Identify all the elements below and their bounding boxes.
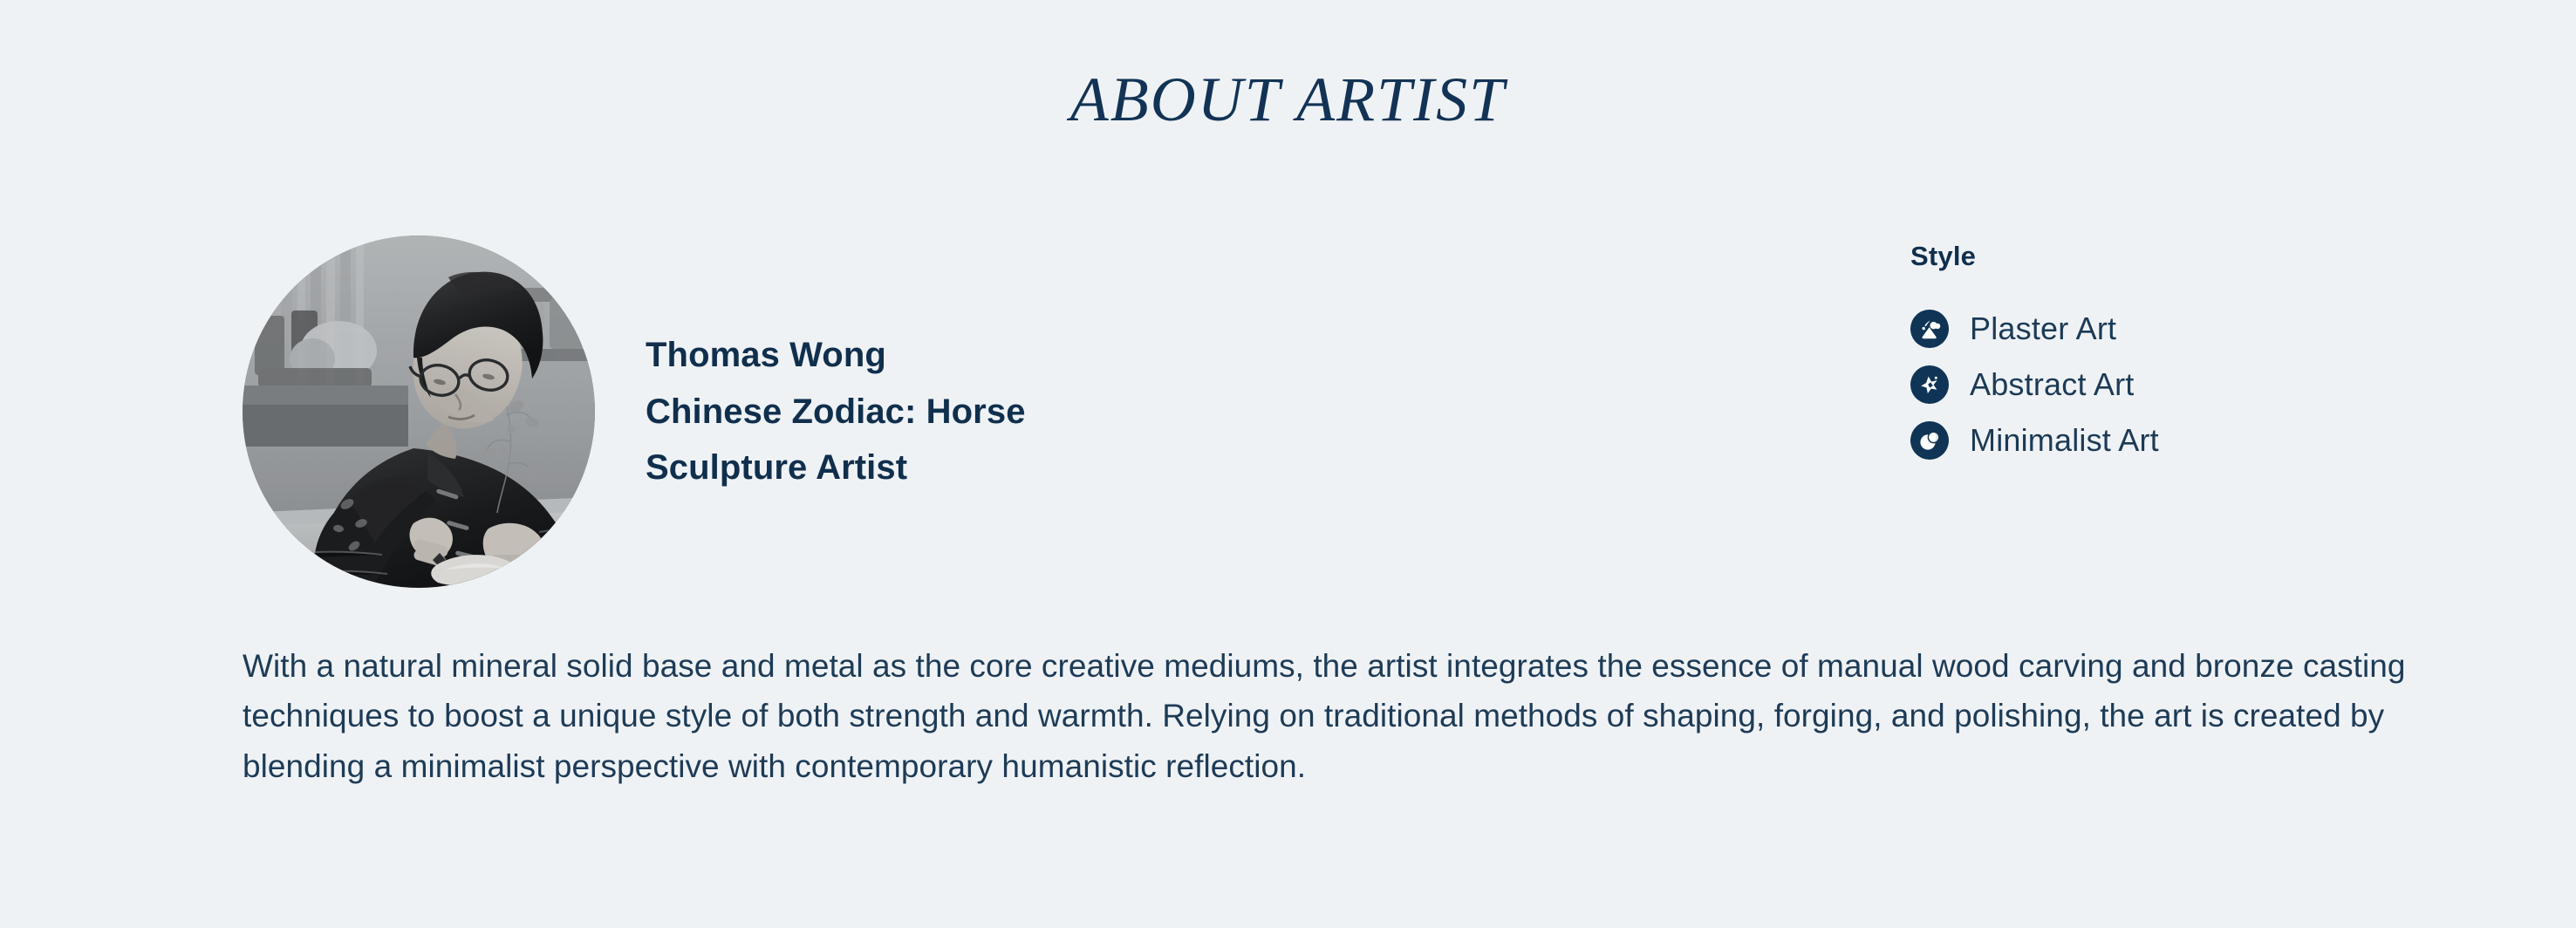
style-item-plaster-art[interactable]: Plaster Art [1910,310,2159,348]
artist-bio-paragraph: With a natural mineral solid base and me… [243,641,2441,791]
style-panel: Style Plaster Art [1910,242,2159,460]
artist-zodiac: Chinese Zodiac: Horse [646,384,1026,440]
artist-profile-row: Thomas Wong Chinese Zodiac: Horse Sculpt… [243,235,1026,588]
style-item-label: Abstract Art [1970,369,2134,400]
about-artist-section: ABOUT ARTIST [0,0,2576,928]
style-heading: Style [1910,242,2159,270]
style-item-label: Plaster Art [1970,313,2116,345]
artist-role: Sculpture Artist [646,440,1026,496]
style-item-abstract-art[interactable]: Abstract Art [1910,365,2159,404]
artist-name: Thomas Wong [646,327,1026,384]
avatar [243,235,595,588]
overlapping-circles-icon [1910,421,1949,460]
style-item-minimalist-art[interactable]: Minimalist Art [1910,421,2159,460]
style-list: Plaster Art Abstract Art [1910,310,2159,460]
abstract-star-icon [1910,365,1949,404]
plaster-mound-icon [1910,310,1949,348]
page-title: ABOUT ARTIST [0,68,2576,131]
artist-info: Thomas Wong Chinese Zodiac: Horse Sculpt… [646,327,1026,496]
style-item-label: Minimalist Art [1970,425,2159,456]
